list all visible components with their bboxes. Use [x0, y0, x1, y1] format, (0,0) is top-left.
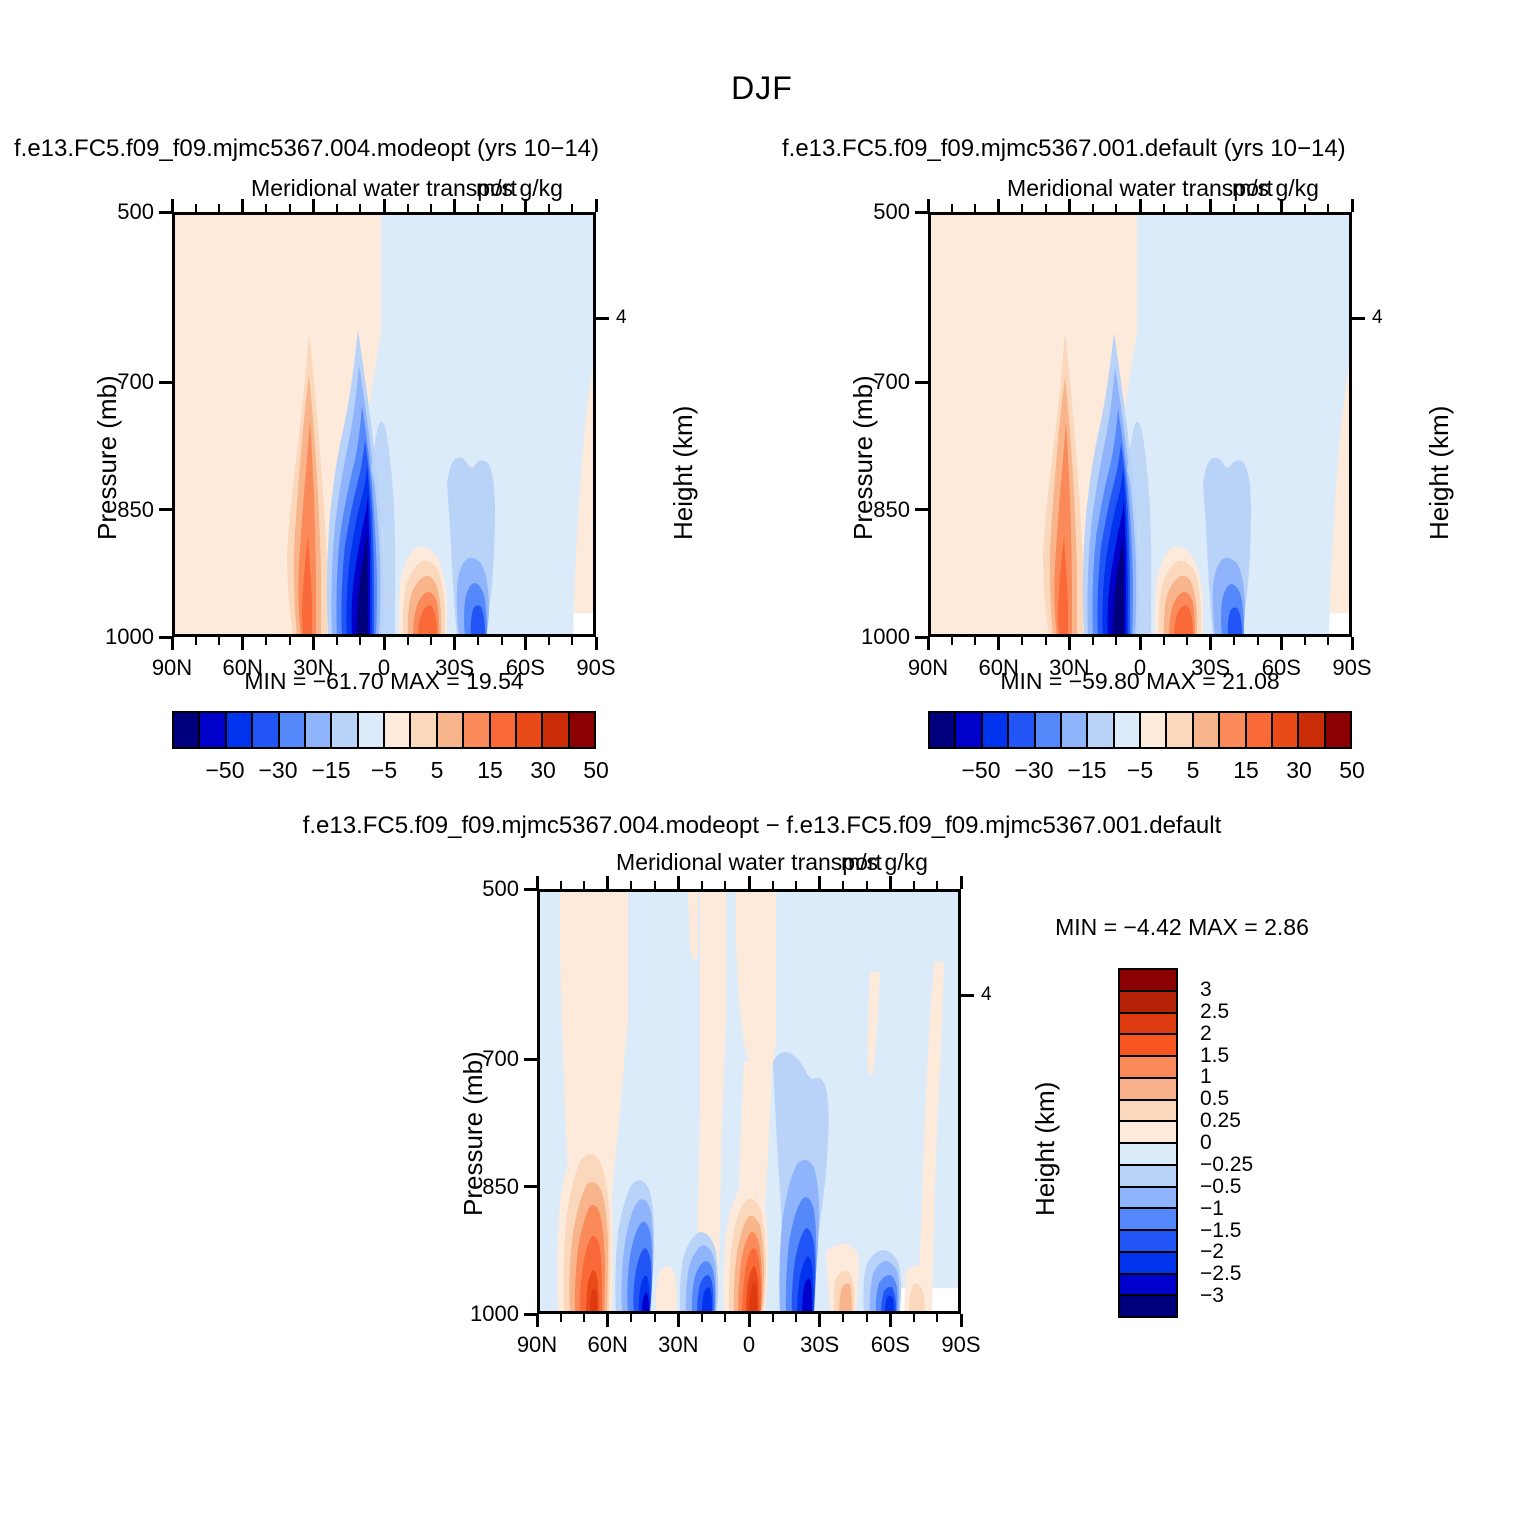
- y-axis-label: 700: [447, 1046, 519, 1072]
- y-axis-tick-major: [159, 508, 172, 511]
- right-panel-case-title: f.e13.FC5.f09_f09.mjmc5367.001.default (…: [782, 135, 1522, 163]
- x-axis-tick-major: [889, 1314, 892, 1327]
- right-axis-tick-major: [961, 994, 974, 997]
- top-axis-tick-minor: [477, 204, 479, 212]
- colorbar-cell: [1120, 1253, 1176, 1275]
- colorbar-tick-label: −30: [1014, 757, 1053, 784]
- colorbar-cell: [1120, 1231, 1176, 1253]
- x-axis-tick-minor: [795, 1314, 797, 1322]
- top-axis-tick-major: [748, 876, 751, 889]
- colorbar-tick-label: 30: [1286, 757, 1312, 784]
- top-axis-tick-major: [889, 876, 892, 889]
- colorbar-cell: [200, 713, 226, 747]
- top-axis-tick-minor: [951, 204, 953, 212]
- x-axis-label: 0: [743, 1332, 755, 1358]
- colorbar-cell: [1120, 992, 1176, 1014]
- colorbar-tick-label: −2: [1200, 1240, 1224, 1264]
- top-axis-tick-minor: [866, 881, 868, 889]
- right-axis-tick-major: [1352, 317, 1365, 320]
- colorbar-cell: [1120, 1079, 1176, 1101]
- colorbar-tick-label: −1.5: [1200, 1219, 1241, 1243]
- y-axis-tick-major: [159, 636, 172, 639]
- x-axis-tick-minor: [477, 637, 479, 645]
- right-panel-minmax: MIN = −59.80 MAX = 21.08: [1000, 668, 1279, 695]
- top-axis-tick-major: [927, 199, 930, 212]
- x-axis-tick-minor: [951, 637, 953, 645]
- x-axis-tick-major: [1280, 637, 1283, 650]
- colorbar-tick-label: 50: [583, 757, 609, 784]
- right-panel-colorbar: [928, 711, 1352, 749]
- colorbar-tick-label: 5: [1187, 757, 1200, 784]
- y-axis-label: 1000: [838, 624, 910, 650]
- x-axis-tick-major: [1139, 637, 1142, 650]
- y-axis-tick-major: [524, 1313, 537, 1316]
- x-axis-label: 90S: [576, 655, 615, 681]
- x-axis-tick-minor: [1163, 637, 1165, 645]
- colorbar-cell: [1120, 1014, 1176, 1036]
- top-axis-tick-minor: [407, 204, 409, 212]
- page-title: DJF: [0, 70, 1524, 107]
- x-axis-tick-minor: [1092, 637, 1094, 645]
- colorbar-cell: [491, 713, 517, 747]
- colorbar-cell: [1326, 713, 1350, 747]
- top-axis-tick-minor: [795, 881, 797, 889]
- top-axis-tick-minor: [1327, 204, 1329, 212]
- colorbar-cell: [1194, 713, 1220, 747]
- colorbar-tick-label: 2.5: [1200, 1000, 1229, 1024]
- colorbar-cell: [1088, 713, 1114, 747]
- colorbar-cell: [438, 713, 464, 747]
- x-axis-tick-minor: [289, 637, 291, 645]
- x-axis-tick-minor: [842, 1314, 844, 1322]
- y-axis-label: 850: [838, 497, 910, 523]
- colorbar-tick-label: −15: [1067, 757, 1106, 784]
- x-axis-tick-minor: [1186, 637, 1188, 645]
- top-axis-tick-minor: [1092, 204, 1094, 212]
- top-axis-tick-major: [241, 199, 244, 212]
- diff-panel-plot: [537, 889, 961, 1314]
- right-panel-contour-field: [931, 215, 1351, 636]
- colorbar-cell: [543, 713, 569, 747]
- x-axis-label: 30N: [658, 1332, 698, 1358]
- y-axis-label: 500: [838, 199, 910, 225]
- x-axis-tick-major: [677, 1314, 680, 1327]
- colorbar-tick-label: −50: [205, 757, 244, 784]
- colorbar-cell: [1120, 1122, 1176, 1144]
- colorbar-cell: [306, 713, 332, 747]
- colorbar-cell: [956, 713, 982, 747]
- colorbar-cell: [1115, 713, 1141, 747]
- colorbar-cell: [1120, 970, 1176, 992]
- top-axis-tick-minor: [724, 881, 726, 889]
- left-panel-right-axis-title: Height (km): [668, 406, 699, 540]
- x-axis-tick-minor: [936, 1314, 938, 1322]
- top-axis-tick-minor: [289, 204, 291, 212]
- top-axis-tick-minor: [265, 204, 267, 212]
- colorbar-tick-label: −2.5: [1200, 1262, 1241, 1286]
- colorbar-tick-label: 0.5: [1200, 1087, 1229, 1111]
- x-axis-tick-major: [927, 637, 930, 650]
- x-axis-tick-minor: [654, 1314, 656, 1322]
- colorbar-tick-label: 0.25: [1200, 1109, 1241, 1133]
- x-axis-tick-minor: [1327, 637, 1329, 645]
- colorbar-cell: [1120, 1275, 1176, 1297]
- x-axis-tick-minor: [724, 1314, 726, 1322]
- right-axis-label: 4: [616, 307, 627, 329]
- top-axis-tick-minor: [1115, 204, 1117, 212]
- x-axis-tick-major: [312, 637, 315, 650]
- top-axis-tick-minor: [1233, 204, 1235, 212]
- colorbar-cell: [570, 713, 594, 747]
- x-axis-tick-major: [536, 1314, 539, 1327]
- colorbar-cell: [332, 713, 358, 747]
- left-panel-subtitle-right: m/s g/kg: [476, 175, 563, 202]
- x-axis-tick-minor: [913, 1314, 915, 1322]
- x-axis-tick-minor: [571, 637, 573, 645]
- x-axis-tick-minor: [772, 1314, 774, 1322]
- left-panel-case-title: f.e13.FC5.f09_f09.mjmc5367.004.modeopt (…: [14, 135, 784, 163]
- right-axis-label: 4: [981, 984, 992, 1006]
- top-axis-tick-minor: [1163, 204, 1165, 212]
- diff-panel-case-title: f.e13.FC5.f09_f09.mjmc5367.004.modeopt −…: [0, 812, 1524, 840]
- colorbar-cell: [1220, 713, 1246, 747]
- colorbar-cell: [983, 713, 1009, 747]
- colorbar-cell: [1167, 713, 1193, 747]
- y-axis-tick-major: [159, 381, 172, 384]
- top-axis-tick-major: [606, 876, 609, 889]
- top-axis-tick-minor: [1021, 204, 1023, 212]
- x-axis-tick-minor: [359, 637, 361, 645]
- colorbar-tick-label: 5: [431, 757, 444, 784]
- top-axis-tick-major: [1139, 199, 1142, 212]
- top-axis-tick-minor: [548, 204, 550, 212]
- top-axis-tick-major: [453, 199, 456, 212]
- diff-panel-minmax: MIN = −4.42 MAX = 2.86: [1055, 914, 1309, 941]
- top-axis-tick-major: [595, 199, 598, 212]
- top-axis-tick-major: [1351, 199, 1354, 212]
- y-axis-tick-major: [915, 381, 928, 384]
- top-axis-tick-major: [171, 199, 174, 212]
- x-axis-tick-major: [171, 637, 174, 650]
- top-axis-tick-minor: [913, 881, 915, 889]
- top-axis-tick-major: [536, 876, 539, 889]
- x-axis-tick-minor: [1257, 637, 1259, 645]
- x-axis-tick-minor: [701, 1314, 703, 1322]
- right-axis-label: 4: [1372, 307, 1383, 329]
- colorbar-cell: [1247, 713, 1273, 747]
- top-axis-tick-minor: [359, 204, 361, 212]
- y-axis-label: 500: [82, 199, 154, 225]
- top-axis-tick-minor: [583, 881, 585, 889]
- top-axis-tick-minor: [1186, 204, 1188, 212]
- colorbar-cell: [1141, 713, 1167, 747]
- colorbar-cell: [253, 713, 279, 747]
- x-axis-tick-minor: [195, 637, 197, 645]
- top-axis-tick-minor: [974, 204, 976, 212]
- left-panel-plot: [172, 212, 596, 637]
- x-axis-tick-minor: [265, 637, 267, 645]
- x-axis-label: 90N: [908, 655, 948, 681]
- colorbar-cell: [1273, 713, 1299, 747]
- x-axis-tick-minor: [336, 637, 338, 645]
- colorbar-tick-label: −3: [1200, 1284, 1224, 1308]
- top-axis-tick-major: [677, 876, 680, 889]
- colorbar-cell: [411, 713, 437, 747]
- colorbar-tick-label: −5: [371, 757, 397, 784]
- right-panel-plot: [928, 212, 1352, 637]
- diff-panel-contour-field: [540, 892, 960, 1313]
- top-axis-tick-minor: [654, 881, 656, 889]
- x-axis-tick-major: [453, 637, 456, 650]
- top-axis-tick-minor: [772, 881, 774, 889]
- x-axis-tick-minor: [583, 1314, 585, 1322]
- x-axis-tick-major: [1209, 637, 1212, 650]
- colorbar-cell: [1120, 1209, 1176, 1231]
- top-axis-tick-minor: [430, 204, 432, 212]
- colorbar-cell: [1120, 1101, 1176, 1123]
- colorbar-tick-label: 50: [1339, 757, 1365, 784]
- top-axis-tick-minor: [701, 881, 703, 889]
- colorbar-cell: [1062, 713, 1088, 747]
- colorbar-cell: [517, 713, 543, 747]
- x-axis-tick-major: [606, 1314, 609, 1327]
- top-axis-tick-major: [1068, 199, 1071, 212]
- colorbar-cell: [1299, 713, 1325, 747]
- colorbar-cell: [1036, 713, 1062, 747]
- x-axis-tick-minor: [548, 637, 550, 645]
- top-axis-tick-minor: [571, 204, 573, 212]
- colorbar-cell: [227, 713, 253, 747]
- x-axis-tick-minor: [974, 637, 976, 645]
- right-panel-right-axis-title: Height (km): [1424, 406, 1455, 540]
- top-axis-tick-minor: [630, 881, 632, 889]
- colorbar-cell: [359, 713, 385, 747]
- x-axis-tick-major: [997, 637, 1000, 650]
- colorbar-cell: [280, 713, 306, 747]
- y-axis-label: 700: [82, 369, 154, 395]
- top-axis-tick-major: [312, 199, 315, 212]
- x-axis-tick-major: [241, 637, 244, 650]
- top-axis-tick-major: [997, 199, 1000, 212]
- diff-panel-colorbar: [1118, 968, 1178, 1318]
- colorbar-tick-label: −0.5: [1200, 1175, 1241, 1199]
- y-axis-tick-major: [524, 1185, 537, 1188]
- colorbar-cell: [1120, 1035, 1176, 1057]
- top-axis-tick-major: [524, 199, 527, 212]
- x-axis-tick-minor: [501, 637, 503, 645]
- colorbar-tick-label: 1: [1200, 1065, 1212, 1089]
- colorbar-cell: [1009, 713, 1035, 747]
- x-axis-tick-minor: [1045, 637, 1047, 645]
- colorbar-tick-label: 0: [1200, 1131, 1212, 1155]
- top-axis-tick-major: [383, 199, 386, 212]
- top-axis-tick-major: [1209, 199, 1212, 212]
- x-axis-label: 60S: [871, 1332, 910, 1358]
- top-axis-tick-minor: [1045, 204, 1047, 212]
- colorbar-cell: [1120, 1144, 1176, 1166]
- x-axis-tick-major: [748, 1314, 751, 1327]
- x-axis-tick-minor: [430, 637, 432, 645]
- x-axis-label: 90S: [941, 1332, 980, 1358]
- x-axis-tick-minor: [560, 1314, 562, 1322]
- colorbar-tick-label: −5: [1127, 757, 1153, 784]
- x-axis-tick-major: [1068, 637, 1071, 650]
- top-axis-tick-minor: [560, 881, 562, 889]
- x-axis-tick-major: [524, 637, 527, 650]
- colorbar-tick-label: 15: [1233, 757, 1259, 784]
- top-axis-tick-minor: [936, 881, 938, 889]
- diff-panel-right-axis-title: Height (km): [1030, 1082, 1061, 1216]
- colorbar-tick-label: 3: [1200, 978, 1212, 1002]
- y-axis-label: 700: [838, 369, 910, 395]
- right-panel-subtitle-right: m/s g/kg: [1232, 175, 1319, 202]
- diff-panel-subtitle-right: m/s g/kg: [841, 849, 928, 876]
- top-axis-tick-major: [818, 876, 821, 889]
- x-axis-tick-minor: [218, 637, 220, 645]
- x-axis-label: 60N: [587, 1332, 627, 1358]
- colorbar-cell: [385, 713, 411, 747]
- x-axis-tick-minor: [1233, 637, 1235, 645]
- colorbar-tick-label: −15: [311, 757, 350, 784]
- top-axis-tick-minor: [218, 204, 220, 212]
- top-axis-tick-major: [1280, 199, 1283, 212]
- x-axis-tick-major: [818, 1314, 821, 1327]
- colorbar-cell: [464, 713, 490, 747]
- colorbar-tick-label: −50: [961, 757, 1000, 784]
- colorbar-tick-label: 15: [477, 757, 503, 784]
- colorbar-cell: [1120, 1057, 1176, 1079]
- x-axis-label: 30S: [800, 1332, 839, 1358]
- left-panel-contour-field: [175, 215, 595, 636]
- colorbar-tick-label: −0.25: [1200, 1153, 1253, 1177]
- x-axis-label: 90N: [517, 1332, 557, 1358]
- right-axis-tick-major: [596, 317, 609, 320]
- x-axis-label: 90N: [152, 655, 192, 681]
- y-axis-label: 850: [447, 1174, 519, 1200]
- y-axis-tick-major: [915, 508, 928, 511]
- colorbar-tick-label: −30: [258, 757, 297, 784]
- colorbar-cell: [1120, 1166, 1176, 1188]
- top-axis-tick-minor: [501, 204, 503, 212]
- top-axis-tick-minor: [336, 204, 338, 212]
- top-axis-tick-minor: [1257, 204, 1259, 212]
- y-axis-label: 500: [447, 876, 519, 902]
- x-axis-tick-minor: [630, 1314, 632, 1322]
- colorbar-tick-label: 2: [1200, 1022, 1212, 1046]
- y-axis-label: 1000: [82, 624, 154, 650]
- x-axis-tick-major: [595, 637, 598, 650]
- y-axis-label: 850: [82, 497, 154, 523]
- x-axis-label: 90S: [1332, 655, 1371, 681]
- y-axis-tick-major: [915, 636, 928, 639]
- x-axis-tick-minor: [407, 637, 409, 645]
- y-axis-tick-major: [524, 1058, 537, 1061]
- x-axis-tick-minor: [1115, 637, 1117, 645]
- x-axis-tick-major: [960, 1314, 963, 1327]
- colorbar-cell: [1120, 1188, 1176, 1210]
- colorbar-tick-label: 30: [530, 757, 556, 784]
- top-axis-tick-minor: [195, 204, 197, 212]
- x-axis-tick-minor: [866, 1314, 868, 1322]
- top-axis-tick-minor: [1304, 204, 1306, 212]
- top-axis-tick-major: [960, 876, 963, 889]
- colorbar-cell: [930, 713, 956, 747]
- x-axis-tick-major: [1351, 637, 1354, 650]
- colorbar-cell: [174, 713, 200, 747]
- x-axis-tick-minor: [1021, 637, 1023, 645]
- x-axis-tick-major: [383, 637, 386, 650]
- y-axis-label: 1000: [447, 1301, 519, 1327]
- x-axis-tick-minor: [1304, 637, 1306, 645]
- colorbar-cell: [1120, 1296, 1176, 1316]
- colorbar-tick-label: 1.5: [1200, 1044, 1229, 1068]
- left-panel-colorbar: [172, 711, 596, 749]
- top-axis-tick-minor: [842, 881, 844, 889]
- left-panel-minmax: MIN = −61.70 MAX = 19.54: [244, 668, 523, 695]
- colorbar-tick-label: −1: [1200, 1197, 1224, 1221]
